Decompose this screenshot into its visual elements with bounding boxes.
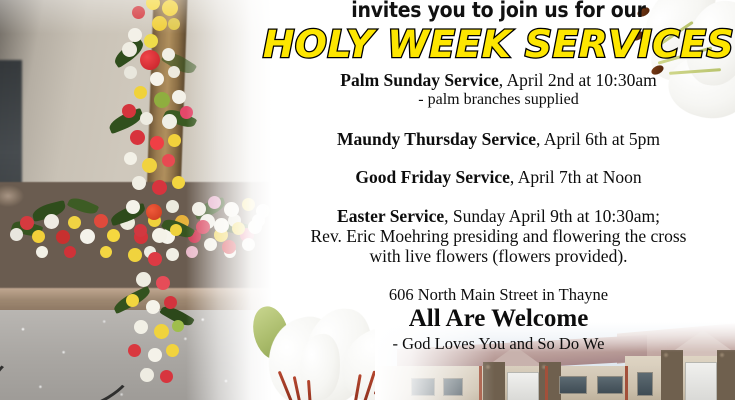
text-panel: invites you to join us for our HOLY WEEK…: [262, 0, 735, 400]
headline: HOLY WEEK SERVICES: [257, 23, 735, 66]
service-palm-sunday-detail: , April 2nd at 10:30am: [499, 70, 657, 90]
service-maundy-thursday: Maundy Thursday Service, April 6th at 5p…: [262, 129, 735, 150]
service-palm-sunday: Palm Sunday Service, April 2nd at 10:30a…: [262, 70, 735, 91]
service-good-friday-name: Good Friday Service: [355, 167, 510, 187]
service-good-friday: Good Friday Service, April 7th at Noon: [262, 167, 735, 188]
service-palm-sunday-name: Palm Sunday Service: [340, 70, 498, 90]
service-palm-sunday-note: - palm branches supplied: [262, 91, 735, 110]
service-maundy-thursday-name: Maundy Thursday Service: [337, 129, 536, 149]
holy-week-services-poster: invites you to join us for our HOLY WEEK…: [0, 0, 735, 400]
flowered-cross-photo: [0, 0, 272, 400]
service-easter-detail: , Sunday April 9th at 10:30am;: [444, 206, 660, 226]
service-maundy-thursday-detail: , April 6th at 5pm: [536, 129, 660, 149]
service-easter-line2: Rev. Eric Moehring presiding and floweri…: [262, 226, 735, 247]
cross-vertical-beam-flowers: [106, 0, 202, 394]
service-easter: Easter Service, Sunday April 9th at 10:3…: [262, 206, 735, 227]
service-easter-line3: with live flowers (flowers provided).: [262, 246, 735, 267]
service-easter-name: Easter Service: [337, 206, 444, 226]
right-flower-cluster: [192, 196, 272, 256]
service-good-friday-detail: , April 7th at Noon: [510, 167, 642, 187]
tagline: - God Loves You and So Do We: [262, 334, 735, 354]
kicker-line: invites you to join us for our: [286, 0, 712, 22]
address-line: 606 North Main Street in Thayne: [262, 285, 735, 305]
welcome-line: All Are Welcome: [262, 305, 735, 333]
